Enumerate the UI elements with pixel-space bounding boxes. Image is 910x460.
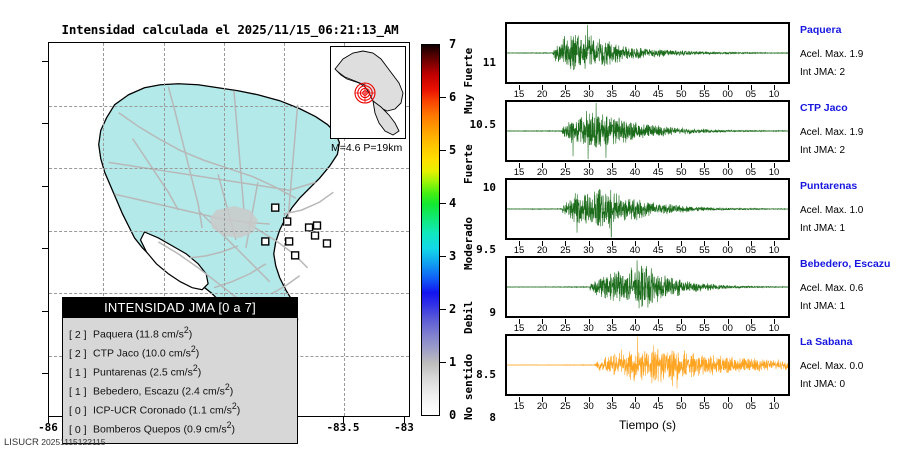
- legend-station: Bomberos Quepos: [93, 424, 181, 436]
- seismogram-peak-acceleration: Acel. Max. 1.9: [800, 49, 863, 60]
- seismogram-tick-label: 55: [692, 323, 716, 334]
- seismogram-tick-label: 35: [600, 89, 624, 100]
- seismogram-station-name[interactable]: Puntarenas: [800, 180, 857, 192]
- legend-level: [ 2 ]: [69, 328, 93, 343]
- colorbar-tick: [440, 150, 446, 151]
- map-gridline-h: [49, 231, 409, 232]
- seismogram-tick-label: 15: [507, 89, 531, 100]
- legend-row: [ 2 ]Paquera (11.8 cm/s2): [69, 323, 291, 342]
- seismogram-jma-intensity: Int JMA: 1: [800, 223, 845, 234]
- seismogram-tick-label: 35: [600, 401, 624, 412]
- colorbar-category-muy-fuerte: Muy Fuerte: [462, 36, 475, 114]
- seismogram-tick-label: 35: [600, 167, 624, 178]
- seismogram-tick-label: 30: [577, 401, 601, 412]
- seismogram-peak-acceleration: Acel. Max. 1.0: [800, 205, 863, 216]
- seismogram-peak-acceleration: Acel. Max. 0.0: [800, 361, 863, 372]
- seismogram-tick-label: 05: [739, 89, 763, 100]
- seismogram-tick-label: 45: [646, 245, 670, 256]
- legend-station: Paquera: [93, 329, 133, 341]
- legend-level: [ 0 ]: [69, 404, 93, 419]
- seismogram-tick-label: 40: [623, 167, 647, 178]
- seismogram-tick-label: 20: [530, 245, 554, 256]
- seismogram-xaxis: 152025303540455055000510: [505, 85, 790, 101]
- legend-body: [ 2 ]Paquera (11.8 cm/s2) [ 2 ]CTP Jaco …: [63, 318, 297, 443]
- legend-station: Bebedero, Escazu: [93, 386, 179, 398]
- seismogram-tick-label: 35: [600, 245, 624, 256]
- waveform-trace: [507, 180, 788, 238]
- waveform-trace: [507, 336, 788, 394]
- seismogram-tick-label: 55: [692, 401, 716, 412]
- legend-level: [ 1 ]: [69, 366, 93, 381]
- seismogram-tick-label: 30: [577, 245, 601, 256]
- seismogram-tick-label: 45: [646, 167, 670, 178]
- seismogram-xaxis-label: Tiempo (s): [505, 418, 790, 432]
- seismogram-tick-label: 10: [762, 323, 786, 334]
- seismogram-tick-label: 50: [669, 245, 693, 256]
- seismogram-tick-label: 05: [739, 167, 763, 178]
- waveform-trace: [507, 258, 788, 316]
- colorbar-label-7: 7: [449, 37, 456, 51]
- colorbar-tick: [440, 362, 446, 363]
- colorbar-tick: [440, 97, 446, 98]
- map-xtick: [404, 417, 405, 423]
- colorbar-label-6: 6: [449, 90, 456, 104]
- colorbar-tick: [440, 203, 446, 204]
- map-gridline-h: [49, 168, 409, 169]
- seismogram-panel[interactable]: [505, 256, 790, 318]
- seismogram-station-name[interactable]: Bebedero, Escazu: [800, 258, 890, 270]
- seismogram-panel[interactable]: [505, 178, 790, 240]
- map-ytick: [42, 123, 48, 124]
- colorbar-label-3: 3: [449, 249, 456, 263]
- watermark: LISUCR 20251115122115: [4, 437, 106, 448]
- seismogram-tick-label: 15: [507, 323, 531, 334]
- legend-value: (0.9 cm/s: [183, 424, 226, 436]
- seismogram-tick-label: 10: [762, 89, 786, 100]
- seismogram-tick-label: 55: [692, 245, 716, 256]
- seismogram-tick-label: 45: [646, 89, 670, 100]
- map-ytick: [42, 61, 48, 62]
- seismogram-tick-label: 15: [507, 401, 531, 412]
- seismogram-peak-acceleration: Acel. Max. 1.9: [800, 127, 863, 138]
- seismogram-tick-label: 05: [739, 323, 763, 334]
- seismogram-tick-label: 25: [553, 245, 577, 256]
- seismogram-tick-label: 40: [623, 323, 647, 334]
- seismogram-tick-label: 55: [692, 167, 716, 178]
- waveform-trace: [507, 102, 788, 160]
- seismogram-tick-label: 30: [577, 89, 601, 100]
- seismogram-tick-label: 15: [507, 245, 531, 256]
- inset-geometry: [331, 47, 406, 139]
- seismogram-tick-label: 30: [577, 167, 601, 178]
- seismogram-tick-label: 45: [646, 401, 670, 412]
- map-xtick: [343, 417, 344, 423]
- legend-level: [ 1 ]: [69, 385, 93, 400]
- legend-header: INTENSIDAD JMA [0 a 7]: [63, 298, 297, 318]
- locator-inset-map[interactable]: [330, 46, 406, 139]
- seismogram-tick-label: 10: [762, 167, 786, 178]
- legend-level: [ 2 ]: [69, 347, 93, 362]
- legend-station: CTP Jaco: [93, 348, 139, 360]
- seismogram-xaxis: 152025303540455055000510: [505, 397, 790, 413]
- map-xtick: [48, 417, 49, 423]
- seismogram-panel[interactable]: [505, 100, 790, 162]
- seismogram-tick-label: 50: [669, 89, 693, 100]
- legend-row: [ 1 ]Puntarenas (2.5 cm/s2): [69, 361, 291, 380]
- seismogram-tick-label: 25: [553, 89, 577, 100]
- waveform-trace: [507, 24, 788, 82]
- legend-row: [ 0 ]Bomberos Quepos (0.9 cm/s2): [69, 418, 291, 437]
- legend-value: (11.8 cm/s: [136, 329, 184, 341]
- seismogram-tick-label: 50: [669, 401, 693, 412]
- seismogram-tick-label: 10: [762, 245, 786, 256]
- map-gridline-h: [49, 293, 409, 294]
- seismogram-tick-label: 05: [739, 401, 763, 412]
- colorbar-category-moderado: Moderado: [462, 186, 475, 270]
- legend-value: (1.1 cm/s: [189, 405, 232, 417]
- map-ytick: [42, 248, 48, 249]
- seismogram-tick-label: 20: [530, 89, 554, 100]
- map-ytick: [42, 311, 48, 312]
- seismogram-station-name[interactable]: Paquera: [800, 24, 841, 36]
- colorbar-label-2: 2: [449, 302, 456, 316]
- legend-value: (10.0 cm/s: [142, 348, 191, 360]
- seismogram-tick-label: 00: [716, 245, 740, 256]
- seismogram-tick-label: 30: [577, 323, 601, 334]
- seismogram-panel[interactable]: [505, 22, 790, 84]
- seismogram-tick-label: 15: [507, 167, 531, 178]
- seismogram-tick-label: 40: [623, 245, 647, 256]
- seismogram-tick-label: 05: [739, 245, 763, 256]
- seismogram-tick-label: 00: [716, 323, 740, 334]
- seismogram-tick-label: 40: [623, 89, 647, 100]
- legend-row: [ 2 ]CTP Jaco (10.0 cm/s2): [69, 342, 291, 361]
- seismogram-station-name[interactable]: La Sabana: [800, 336, 853, 348]
- colorbar-label-5: 5: [449, 143, 456, 157]
- seismogram-tick-label: 50: [669, 167, 693, 178]
- seismogram-jma-intensity: Int JMA: 0: [800, 379, 845, 390]
- legend-value: (2.5 cm/s: [150, 367, 193, 379]
- seismogram-tick-label: 35: [600, 323, 624, 334]
- legend-level: [ 0 ]: [69, 423, 93, 438]
- legend-station: Puntarenas: [93, 367, 147, 379]
- seismogram-tick-label: 55: [692, 89, 716, 100]
- seismogram-tick-label: 40: [623, 401, 647, 412]
- seismogram-tick-label: 00: [716, 89, 740, 100]
- seismogram-tick-label: 25: [553, 167, 577, 178]
- seismogram-tick-label: 10: [762, 401, 786, 412]
- seismogram-tick-label: 00: [716, 167, 740, 178]
- seismogram-peak-acceleration: Acel. Max. 0.6: [800, 283, 863, 294]
- seismogram-tick-label: 45: [646, 323, 670, 334]
- map-ytick: [42, 186, 48, 187]
- colorbar-category-debil: Debil: [462, 272, 475, 334]
- seismogram-tick-label: 00: [716, 401, 740, 412]
- map-ytick: [42, 373, 48, 374]
- seismogram-tick-label: 20: [530, 323, 554, 334]
- seismogram-xaxis: 152025303540455055000510: [505, 241, 790, 257]
- legend-row: [ 1 ]Bebedero, Escazu (2.4 cm/s2): [69, 380, 291, 399]
- seismogram-tick-label: 25: [553, 323, 577, 334]
- colorbar-tick: [440, 309, 446, 310]
- seismogram-station-name[interactable]: CTP Jaco: [800, 102, 848, 114]
- colorbar-label-1: 1: [449, 355, 456, 369]
- seismogram-jma-intensity: Int JMA: 2: [800, 145, 845, 156]
- seismogram-tick-label: 50: [669, 323, 693, 334]
- legend-value: (2.4 cm/s: [182, 386, 225, 398]
- intensity-colorbar: [421, 44, 440, 416]
- colorbar-label-4: 4: [449, 196, 456, 210]
- seismogram-jma-intensity: Int JMA: 2: [800, 67, 845, 78]
- seismogram-tick-label: 20: [530, 167, 554, 178]
- seismogram-xaxis: 152025303540455055000510: [505, 319, 790, 335]
- page-title: Intensidad calculada el 2025/11/15_06:21…: [0, 22, 460, 37]
- colorbar-category-no-sentido: No sentido: [462, 336, 475, 420]
- seismogram-tick-label: 25: [553, 401, 577, 412]
- seismogram-xaxis: 152025303540455055000510: [505, 163, 790, 179]
- seismogram-jma-intensity: Int JMA: 1: [800, 301, 845, 312]
- legend-station: ICP-UCR Coronado: [93, 405, 186, 417]
- colorbar-label-0: 0: [449, 408, 456, 422]
- magnitude-depth-label: M=4.6 P=19km: [331, 142, 402, 154]
- watermark-agency: LISUCR: [4, 437, 39, 448]
- seismogram-tick-label: 20: [530, 401, 554, 412]
- colorbar-category-fuerte: Fuerte: [462, 112, 475, 184]
- seismogram-panel[interactable]: [505, 334, 790, 396]
- legend-row: [ 0 ]ICP-UCR Coronado (1.1 cm/s2): [69, 399, 291, 418]
- intensity-legend: INTENSIDAD JMA [0 a 7] [ 2 ]Paquera (11.…: [62, 297, 298, 444]
- watermark-code: 20251115122115: [41, 437, 105, 447]
- colorbar-tick: [440, 256, 446, 257]
